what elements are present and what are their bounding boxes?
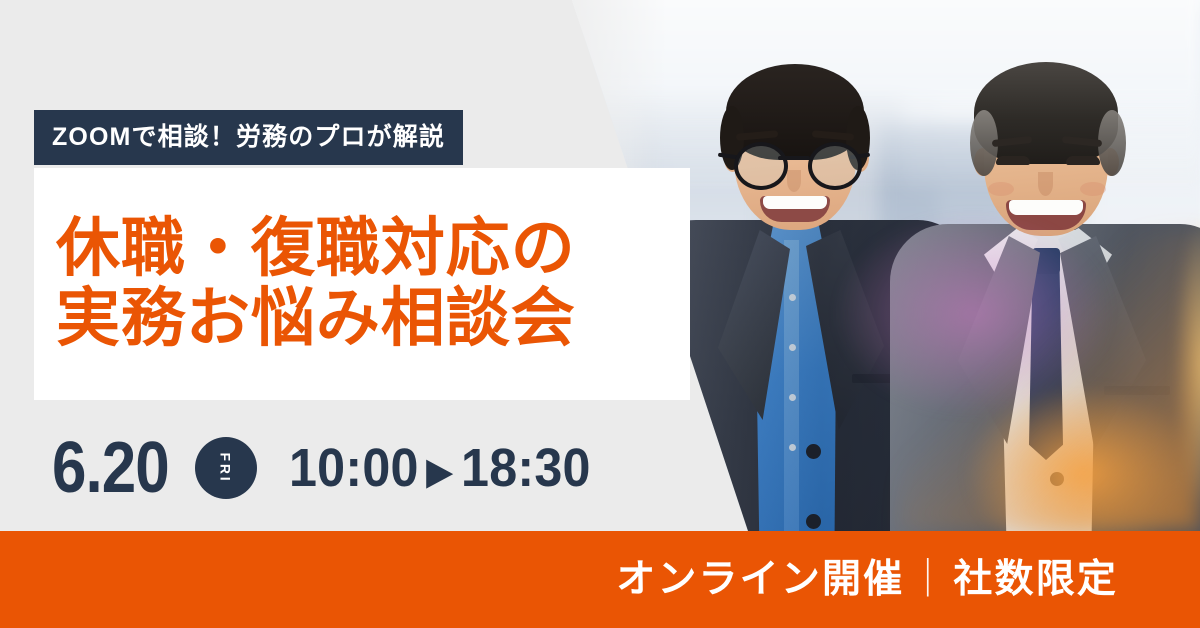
footer-text: オンライン開催｜社数限定 <box>616 560 1118 599</box>
cheek-right <box>1080 182 1106 196</box>
start-time: 10:00 <box>289 438 419 498</box>
cheek-left <box>988 182 1014 196</box>
footer-limit: 社数限定 <box>953 558 1118 601</box>
weekday-label: FRI <box>219 453 233 484</box>
end-time: 18:30 <box>461 438 591 498</box>
time-arrow-icon: ▶ <box>426 451 453 493</box>
jacket-button <box>1050 472 1064 486</box>
headline-line-1: 休職・復職対応の <box>56 214 690 284</box>
nose-shape <box>787 170 801 192</box>
footer-format: オンライン開催 <box>616 558 904 601</box>
footer-bar: オンライン開催｜社数限定 <box>0 531 1200 628</box>
eye-right <box>1066 156 1100 165</box>
jacket-shading <box>890 224 1200 531</box>
glasses-icon <box>808 142 862 190</box>
jacket-button <box>806 444 821 459</box>
glasses-bridge <box>778 156 810 160</box>
mouth-shape <box>1006 200 1086 230</box>
nose-shape <box>1038 172 1053 196</box>
tagline-badge: ZOOMで相談！労務のプロが解説 <box>34 110 463 165</box>
weekday-badge: FRI <box>195 437 257 499</box>
schedule-row: 6.20 FRI 10:00▶18:30 <box>52 424 613 512</box>
tagline-text: ZOOMで相談！労務のプロが解説 <box>52 125 445 150</box>
event-time: 10:00▶18:30 <box>289 441 591 495</box>
eye-left <box>996 156 1030 165</box>
event-date: 6.20 <box>52 432 169 504</box>
glasses-icon <box>734 142 788 190</box>
person-right <box>908 52 1200 531</box>
jacket-button <box>806 514 821 529</box>
headline-panel: 休職・復職対応の 実務お悩み相談会 <box>34 168 690 400</box>
webinar-banner: ZOOMで相談！労務のプロが解説 休職・復職対応の 実務お悩み相談会 6.20 … <box>0 0 1200 628</box>
jacket-pocket <box>1104 386 1170 395</box>
teeth-shape <box>763 196 827 209</box>
hair-gray-side <box>1098 110 1126 176</box>
mouth-shape <box>760 196 830 222</box>
teeth-shape <box>1009 200 1083 215</box>
footer-separator: ｜ <box>908 558 949 601</box>
headline-line-2: 実務お悩み相談会 <box>56 284 690 354</box>
